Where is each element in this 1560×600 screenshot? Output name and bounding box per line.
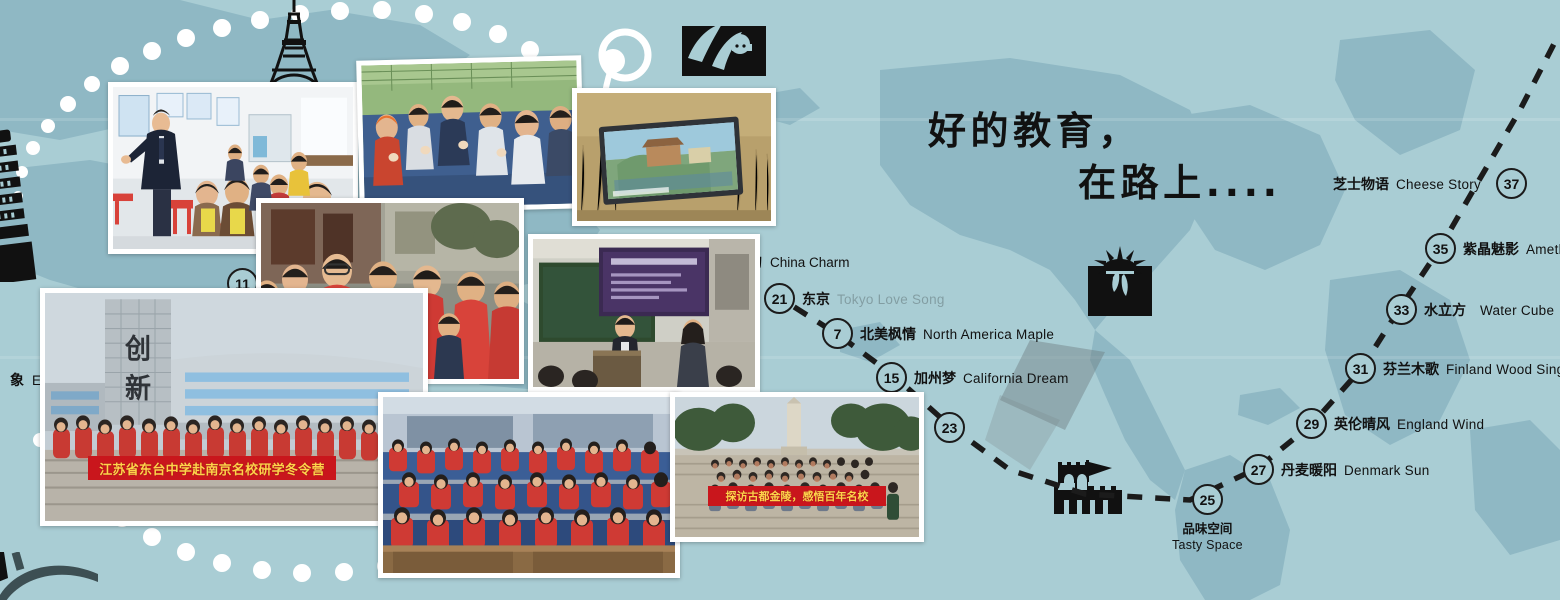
bridge-icon bbox=[0, 552, 104, 600]
route-stop-25[interactable]: 25 品味空间 Tasty Space bbox=[1172, 484, 1243, 552]
route-stop-15[interactable]: 15 加州梦 California Dream bbox=[876, 362, 1069, 393]
stop-number-badge: 33 bbox=[1386, 294, 1417, 325]
opera-house-icon bbox=[682, 18, 766, 76]
stop-label: 品味空间 Tasty Space bbox=[1172, 518, 1243, 552]
leaning-tower-pisa-icon bbox=[0, 122, 42, 282]
route-stop-37[interactable]: 芝士物语 Cheese Story 37 bbox=[1333, 168, 1527, 199]
stop-label: 北美枫情 North America Maple bbox=[860, 324, 1054, 344]
stop-number-badge: 27 bbox=[1243, 454, 1274, 485]
svg-text:创: 创 bbox=[124, 333, 151, 365]
group-photo-banner: 江苏省东台中学赴南京名校研学冬令营 bbox=[88, 456, 336, 480]
stop-label: 加州梦 California Dream bbox=[914, 368, 1069, 388]
page-title-line2: 在路上.... bbox=[1078, 152, 1282, 207]
stop-label-en: Denmark Sun bbox=[1344, 463, 1430, 478]
memorial-steps-group-photo[interactable]: 探访古都金陵，感悟百年名校 bbox=[670, 392, 924, 542]
model-display-photo[interactable] bbox=[572, 88, 776, 226]
stop-label-cn: 东京 bbox=[802, 289, 830, 309]
float-label-cn: 象 bbox=[10, 370, 24, 390]
stop-number-badge: 37 bbox=[1496, 168, 1527, 199]
stop-number-badge: 29 bbox=[1296, 408, 1327, 439]
route-stop-23[interactable]: 23 bbox=[934, 412, 965, 443]
stop-label: 丹麦暖阳 Denmark Sun bbox=[1281, 460, 1430, 480]
float-label-en: China Charm bbox=[770, 255, 850, 270]
stop-label-cn: 水立方 bbox=[1424, 300, 1466, 320]
stop-label-en: Cheese Story bbox=[1396, 177, 1481, 192]
float-label-china-charm: 韵 China Charm bbox=[748, 252, 850, 272]
route-stop-7[interactable]: 7 北美枫情 North America Maple bbox=[822, 318, 1054, 349]
castle-icon bbox=[1050, 452, 1126, 514]
route-stop-29[interactable]: 29 英伦晴风 England Wind bbox=[1296, 408, 1484, 439]
poster-canvas: 11 21 东京 Tokyo Love Song 7 北美枫情 North Am… bbox=[0, 0, 1560, 600]
stop-number-badge: 7 bbox=[822, 318, 853, 349]
stop-label-en: Tokyo Love Song bbox=[837, 292, 945, 307]
stop-label-cn: 芬兰木歌 bbox=[1383, 359, 1439, 379]
students-outdoor-activity-photo[interactable] bbox=[356, 55, 585, 213]
stop-number-badge: 15 bbox=[876, 362, 907, 393]
stop-label-en: Tasty Space bbox=[1172, 538, 1243, 552]
stop-label-cn: 加州梦 bbox=[914, 368, 956, 388]
school-building-group-photo[interactable]: 创新 bbox=[40, 288, 428, 526]
stop-number-badge: 23 bbox=[934, 412, 965, 443]
stop-label: 芝士物语 Cheese Story bbox=[1333, 174, 1481, 194]
route-stop-33[interactable]: 33 水立方 Water Cube bbox=[1386, 294, 1554, 325]
stop-label: 英伦晴风 England Wind bbox=[1334, 414, 1484, 434]
stop-label-cn: 丹麦暖阳 bbox=[1281, 460, 1337, 480]
stop-number-badge: 35 bbox=[1425, 233, 1456, 264]
stop-label: 东京 Tokyo Love Song bbox=[802, 289, 945, 309]
stop-label-cn: 英伦晴风 bbox=[1334, 414, 1390, 434]
auditorium-audience-photo[interactable] bbox=[378, 392, 680, 578]
route-stop-35[interactable]: 35 紫晶魅影 Amethyst Ch bbox=[1425, 233, 1560, 264]
stop-label: 水立方 Water Cube bbox=[1424, 300, 1554, 320]
statue-of-liberty-icon bbox=[1078, 244, 1162, 316]
stop-label-en: England Wind bbox=[1397, 417, 1484, 432]
stop-label-cn: 紫晶魅影 bbox=[1463, 239, 1519, 259]
route-stop-31[interactable]: 31 芬兰木歌 Finland Wood Singing bbox=[1345, 353, 1560, 384]
stop-label-en: California Dream bbox=[963, 371, 1069, 386]
stop-label-cn: 北美枫情 bbox=[860, 324, 916, 344]
stop-label-en: Water Cube bbox=[1480, 303, 1554, 318]
stop-label-cn: 品味空间 bbox=[1182, 518, 1232, 537]
stop-label: 芬兰木歌 Finland Wood Singing bbox=[1383, 359, 1560, 379]
page-title-line1: 好的教育， bbox=[928, 100, 1141, 155]
stop-label-en: North America Maple bbox=[923, 327, 1054, 342]
memorial-photo-banner: 探访古都金陵，感悟百年名校 bbox=[708, 486, 886, 506]
stop-number-badge: 21 bbox=[764, 283, 795, 314]
stop-number-badge: 31 bbox=[1345, 353, 1376, 384]
lecture-hall-presentation-photo[interactable] bbox=[528, 234, 760, 392]
stop-number-badge: 25 bbox=[1192, 484, 1223, 515]
stop-label: 紫晶魅影 Amethyst Ch bbox=[1463, 239, 1560, 259]
stop-label-en: Finland Wood Singing bbox=[1446, 362, 1560, 377]
route-stop-21[interactable]: 21 东京 Tokyo Love Song bbox=[764, 283, 945, 314]
svg-text:新: 新 bbox=[125, 373, 151, 405]
stop-label-cn: 芝士物语 bbox=[1333, 174, 1389, 194]
route-stop-27[interactable]: 27 丹麦暖阳 Denmark Sun bbox=[1243, 454, 1430, 485]
stop-label-en: Amethyst Ch bbox=[1526, 242, 1560, 257]
